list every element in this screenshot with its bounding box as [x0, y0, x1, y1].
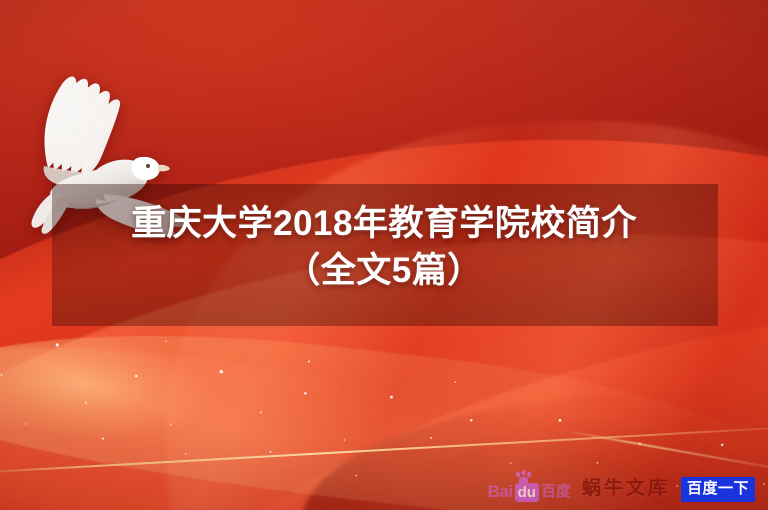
baidu-bai-text: Bai [488, 482, 513, 502]
watermark-row: Bai du 百度 蜗牛文库 百度一下 [488, 476, 755, 502]
baidu-cn-text: 百度 [541, 482, 571, 502]
baidu-search-button[interactable]: 百度一下 [681, 477, 755, 502]
baidu-du-text: du [515, 483, 539, 502]
baidu-paw-icon [514, 470, 533, 485]
title-line-1: 重庆大学2018年教育学院校简介 [0, 200, 768, 247]
site-name-watermark: 蜗牛文库 [582, 478, 670, 500]
page-title: 重庆大学2018年教育学院校简介 （全文5篇） [0, 200, 768, 294]
poster-image: 重庆大学2018年教育学院校简介 （全文5篇） Bai du 百度 蜗牛文库 百… [0, 0, 768, 510]
title-line-2: （全文5篇） [0, 247, 768, 294]
baidu-logo[interactable]: Bai du 百度 [488, 476, 571, 502]
